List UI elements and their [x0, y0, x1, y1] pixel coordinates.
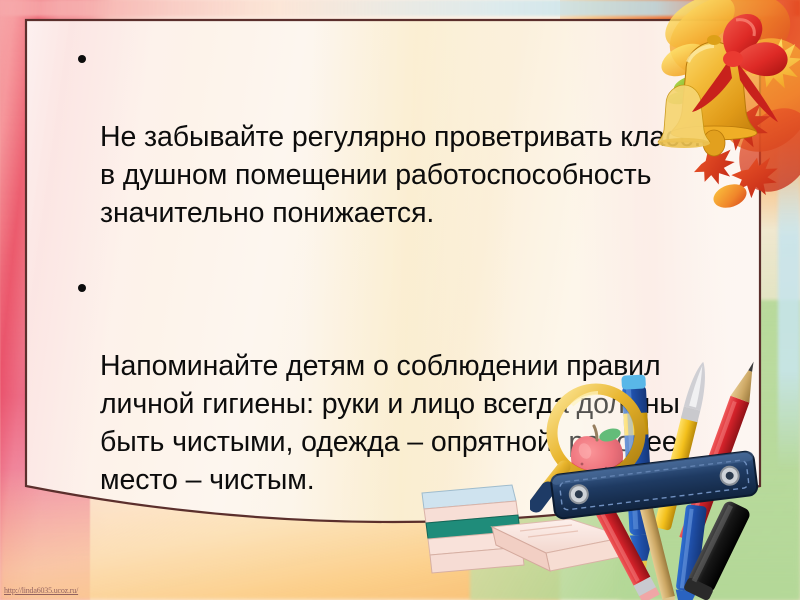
paragraph-2-text: Напоминайте детям о соблюдении правил ли…	[100, 350, 680, 496]
content-card: Не забывайте регулярно проветривать клас…	[24, 18, 762, 538]
background-right-strip	[778, 140, 800, 470]
bullet-marker-1	[78, 55, 86, 63]
bullet-marker-2	[78, 284, 86, 292]
bullet-paragraph-1: Не забывайте регулярно проветривать клас…	[70, 42, 710, 232]
paragraph-1-text: Не забывайте регулярно проветривать клас…	[100, 121, 701, 229]
background-top-strip	[0, 0, 800, 16]
slide-text-body: Не забывайте регулярно проветривать клас…	[70, 42, 710, 499]
presentation-slide: Не забывайте регулярно проветривать клас…	[0, 0, 800, 600]
source-watermark-link[interactable]: http://linda6035.ucoz.ru/	[4, 585, 78, 596]
bullet-paragraph-2: Напоминайте детям о соблюдении правил ли…	[70, 271, 710, 499]
